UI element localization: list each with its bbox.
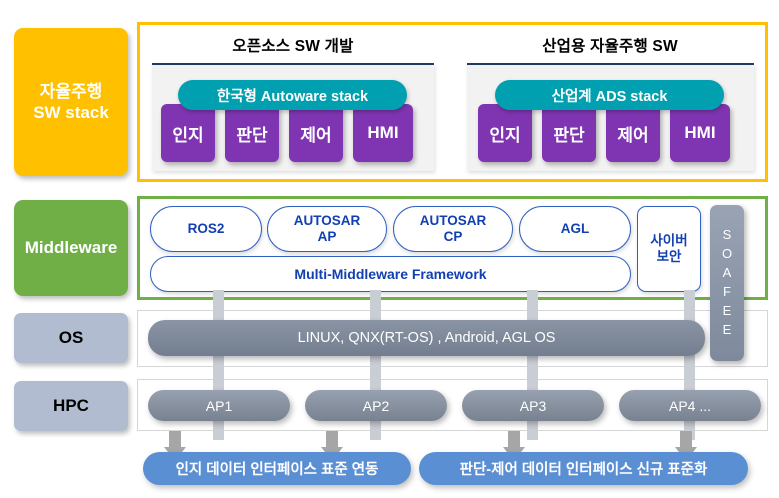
middleware-pill-autosar-ap-line2: AP xyxy=(318,229,337,245)
middleware-pill-cybersecurity-line1: 사이버 xyxy=(650,233,687,249)
callout-arrow-stem-2 xyxy=(508,431,520,447)
middleware-pill-autosar-ap: AUTOSAR AP xyxy=(267,206,387,252)
callout-arrow-stem-3 xyxy=(680,431,692,447)
middleware-pill-cybersecurity: 사이버 보안 xyxy=(637,206,701,292)
module-box-1-3: HMI xyxy=(670,104,730,162)
callout-arrow-stem-1 xyxy=(326,431,338,447)
hpc-processor-1: AP2 xyxy=(305,390,447,421)
soafee-bar: S O A F E E xyxy=(710,205,744,361)
middleware-pill-cybersecurity-line2: 보안 xyxy=(657,249,682,265)
diagram-canvas: 자율주행 SW stack 오픈소스 SW 개발 한국형 Autoware st… xyxy=(0,0,779,498)
layer-label-sw-stack: 자율주행 SW stack xyxy=(14,28,128,176)
middleware-pill-autosar-cp-line2: CP xyxy=(444,229,463,245)
sw-column-title-1: 산업용 자율주행 SW xyxy=(465,34,755,56)
layer-label-sw-stack-line2: SW stack xyxy=(33,102,109,123)
middleware-pill-ros2-label: ROS2 xyxy=(188,221,225,237)
module-box-1-0: 인지 xyxy=(478,104,532,162)
multi-middleware-framework: Multi-Middleware Framework xyxy=(150,256,631,292)
module-box-0-1: 판단 xyxy=(225,104,279,162)
middleware-pill-autosar-ap-line1: AUTOSAR xyxy=(294,213,361,229)
layer-label-hpc: HPC xyxy=(14,381,128,431)
soafee-letter-1: O xyxy=(722,245,732,264)
module-box-0-0: 인지 xyxy=(161,104,215,162)
module-box-1-1: 판단 xyxy=(542,104,596,162)
sw-column-title-0: 오픈소스 SW 개발 xyxy=(148,34,438,56)
middleware-pill-ros2: ROS2 xyxy=(150,206,262,252)
module-box-0-2: 제어 xyxy=(289,104,343,162)
middleware-pill-autosar-cp: AUTOSAR CP xyxy=(393,206,513,252)
callout-0: 인지 데이터 인터페이스 표준 연동 xyxy=(143,452,411,485)
module-box-1-2: 제어 xyxy=(606,104,660,162)
layer-label-sw-stack-line1: 자율주행 xyxy=(40,81,103,102)
soafee-letter-4: E xyxy=(723,302,732,321)
stack-pill-1: 산업계 ADS stack xyxy=(495,80,724,110)
middleware-pill-agl: AGL xyxy=(519,206,631,252)
hpc-processor-2: AP3 xyxy=(462,390,604,421)
callout-arrow-stem-0 xyxy=(169,431,181,447)
layer-label-middleware: Middleware xyxy=(14,200,128,296)
hpc-processor-3: AP4 ... xyxy=(619,390,761,421)
callout-1: 판단-제어 데이터 인터페이스 신규 표준화 xyxy=(419,452,748,485)
layer-label-os: OS xyxy=(14,313,128,363)
module-box-0-3: HMI xyxy=(353,104,413,162)
stack-pill-0: 한국형 Autoware stack xyxy=(178,80,407,110)
middleware-pill-autosar-cp-line1: AUTOSAR xyxy=(420,213,487,229)
middleware-pill-agl-label: AGL xyxy=(561,221,590,237)
hpc-processor-0: AP1 xyxy=(148,390,290,421)
soafee-letter-3: F xyxy=(723,283,731,302)
os-bar: LINUX, QNX(RT-OS) , Android, AGL OS xyxy=(148,320,705,356)
soafee-letter-5: E xyxy=(723,321,732,340)
soafee-letter-2: A xyxy=(723,264,732,283)
soafee-letter-0: S xyxy=(723,226,732,245)
